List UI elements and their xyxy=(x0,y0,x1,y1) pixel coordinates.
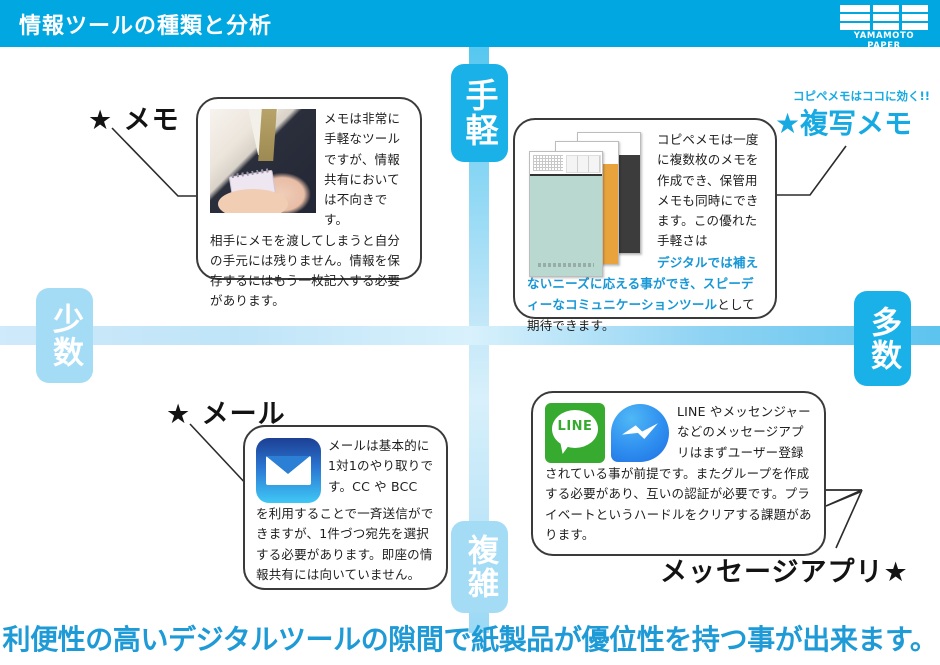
line-icon-label: LINE xyxy=(545,419,605,434)
infographic-canvas: 情報ツールの種類と分析 YAMAMOTO PAPER 手軽 複雑 少数 多数 xyxy=(0,0,940,665)
logo-cell xyxy=(902,23,928,30)
mail-bubble-text-body: を利用することで一斉送信ができますが、1件づつ宛先を選択する必要があります。即座… xyxy=(256,504,435,585)
memo-pad-mint xyxy=(529,151,603,277)
logo-cell xyxy=(840,5,870,12)
message-app-bubble: LINE LINE やメッセンジャーなどのメッセージアプリはまずユーザー登録 さ… xyxy=(531,391,826,556)
logo-cell xyxy=(902,14,928,21)
yamamoto-paper-logo: YAMAMOTO PAPER xyxy=(836,4,932,44)
copy-memo-bubble: コピペメモは一度に複数枚のメモを作成でき、保管用メモも同時にできます。この優れた… xyxy=(513,118,777,319)
axis-label-top: 手軽 xyxy=(451,64,508,162)
axis-label-right: 多数 xyxy=(854,291,911,386)
axis-label-bottom: 複雑 xyxy=(451,521,508,613)
mail-envelope-icon xyxy=(256,438,321,503)
message-app-label: メッセージアプリ★ xyxy=(660,550,909,589)
logo-cell xyxy=(873,5,899,12)
memo-label: ★ メモ xyxy=(88,98,180,137)
copy-memo-label-group: コピペメモはココに効く!! ★複写メモ xyxy=(775,88,930,142)
logo-cell xyxy=(873,23,899,30)
bottom-caption: 利便性の高いデジタルツールの隙間で紙製品が優位性を持つ事が出来ます。 xyxy=(0,618,940,658)
logo-text: YAMAMOTO PAPER xyxy=(836,31,932,51)
axis-label-bottom-text: 複雑 xyxy=(464,534,495,600)
axis-label-right-text: 多数 xyxy=(867,306,898,372)
logo-cell xyxy=(902,5,928,12)
memo-bubble: メモは非常に手軽なツールですが、情報共有においては不向きです。 相手にメモを渡し… xyxy=(196,97,422,280)
photo-hand xyxy=(218,189,288,213)
memo-pad-caption-strip xyxy=(566,155,601,173)
axis-label-top-text: 手軽 xyxy=(463,78,496,148)
horizontal-axis xyxy=(0,326,940,345)
message-app-text-body: されている事が前提です。またグループを作成する必要があり、互いの認証が必要です。… xyxy=(545,464,812,545)
logo-cell xyxy=(873,14,899,21)
logo-grid-icon xyxy=(840,5,928,30)
axis-label-left-text: 少数 xyxy=(49,303,80,369)
logo-cell xyxy=(840,23,870,30)
page-title: 情報ツールの種類と分析 xyxy=(19,8,272,40)
memo-photo-icon xyxy=(210,109,316,213)
facebook-messenger-icon xyxy=(611,404,669,462)
envelope-shape xyxy=(266,456,311,485)
memo-pad-grid xyxy=(533,155,563,171)
line-app-icon: LINE xyxy=(545,403,605,463)
photo-tie xyxy=(258,109,277,161)
memo-pads-photo-icon xyxy=(527,132,649,272)
mail-bubble: メールは基本的に1対1のやり取りです。CC や BCC を利用することで一斉送信… xyxy=(243,425,448,590)
memo-bubble-text-body: 相手にメモを渡してしまうと自分の手元には残りません。情報を保存するにはもう一枚記… xyxy=(210,231,408,312)
logo-cell xyxy=(840,14,870,21)
copy-memo-label: ★複写メモ xyxy=(775,102,930,142)
memo-pad-brand-strip xyxy=(538,263,594,267)
axis-label-left: 少数 xyxy=(36,288,93,383)
header-bar: 情報ツールの種類と分析 YAMAMOTO PAPER xyxy=(0,0,940,47)
